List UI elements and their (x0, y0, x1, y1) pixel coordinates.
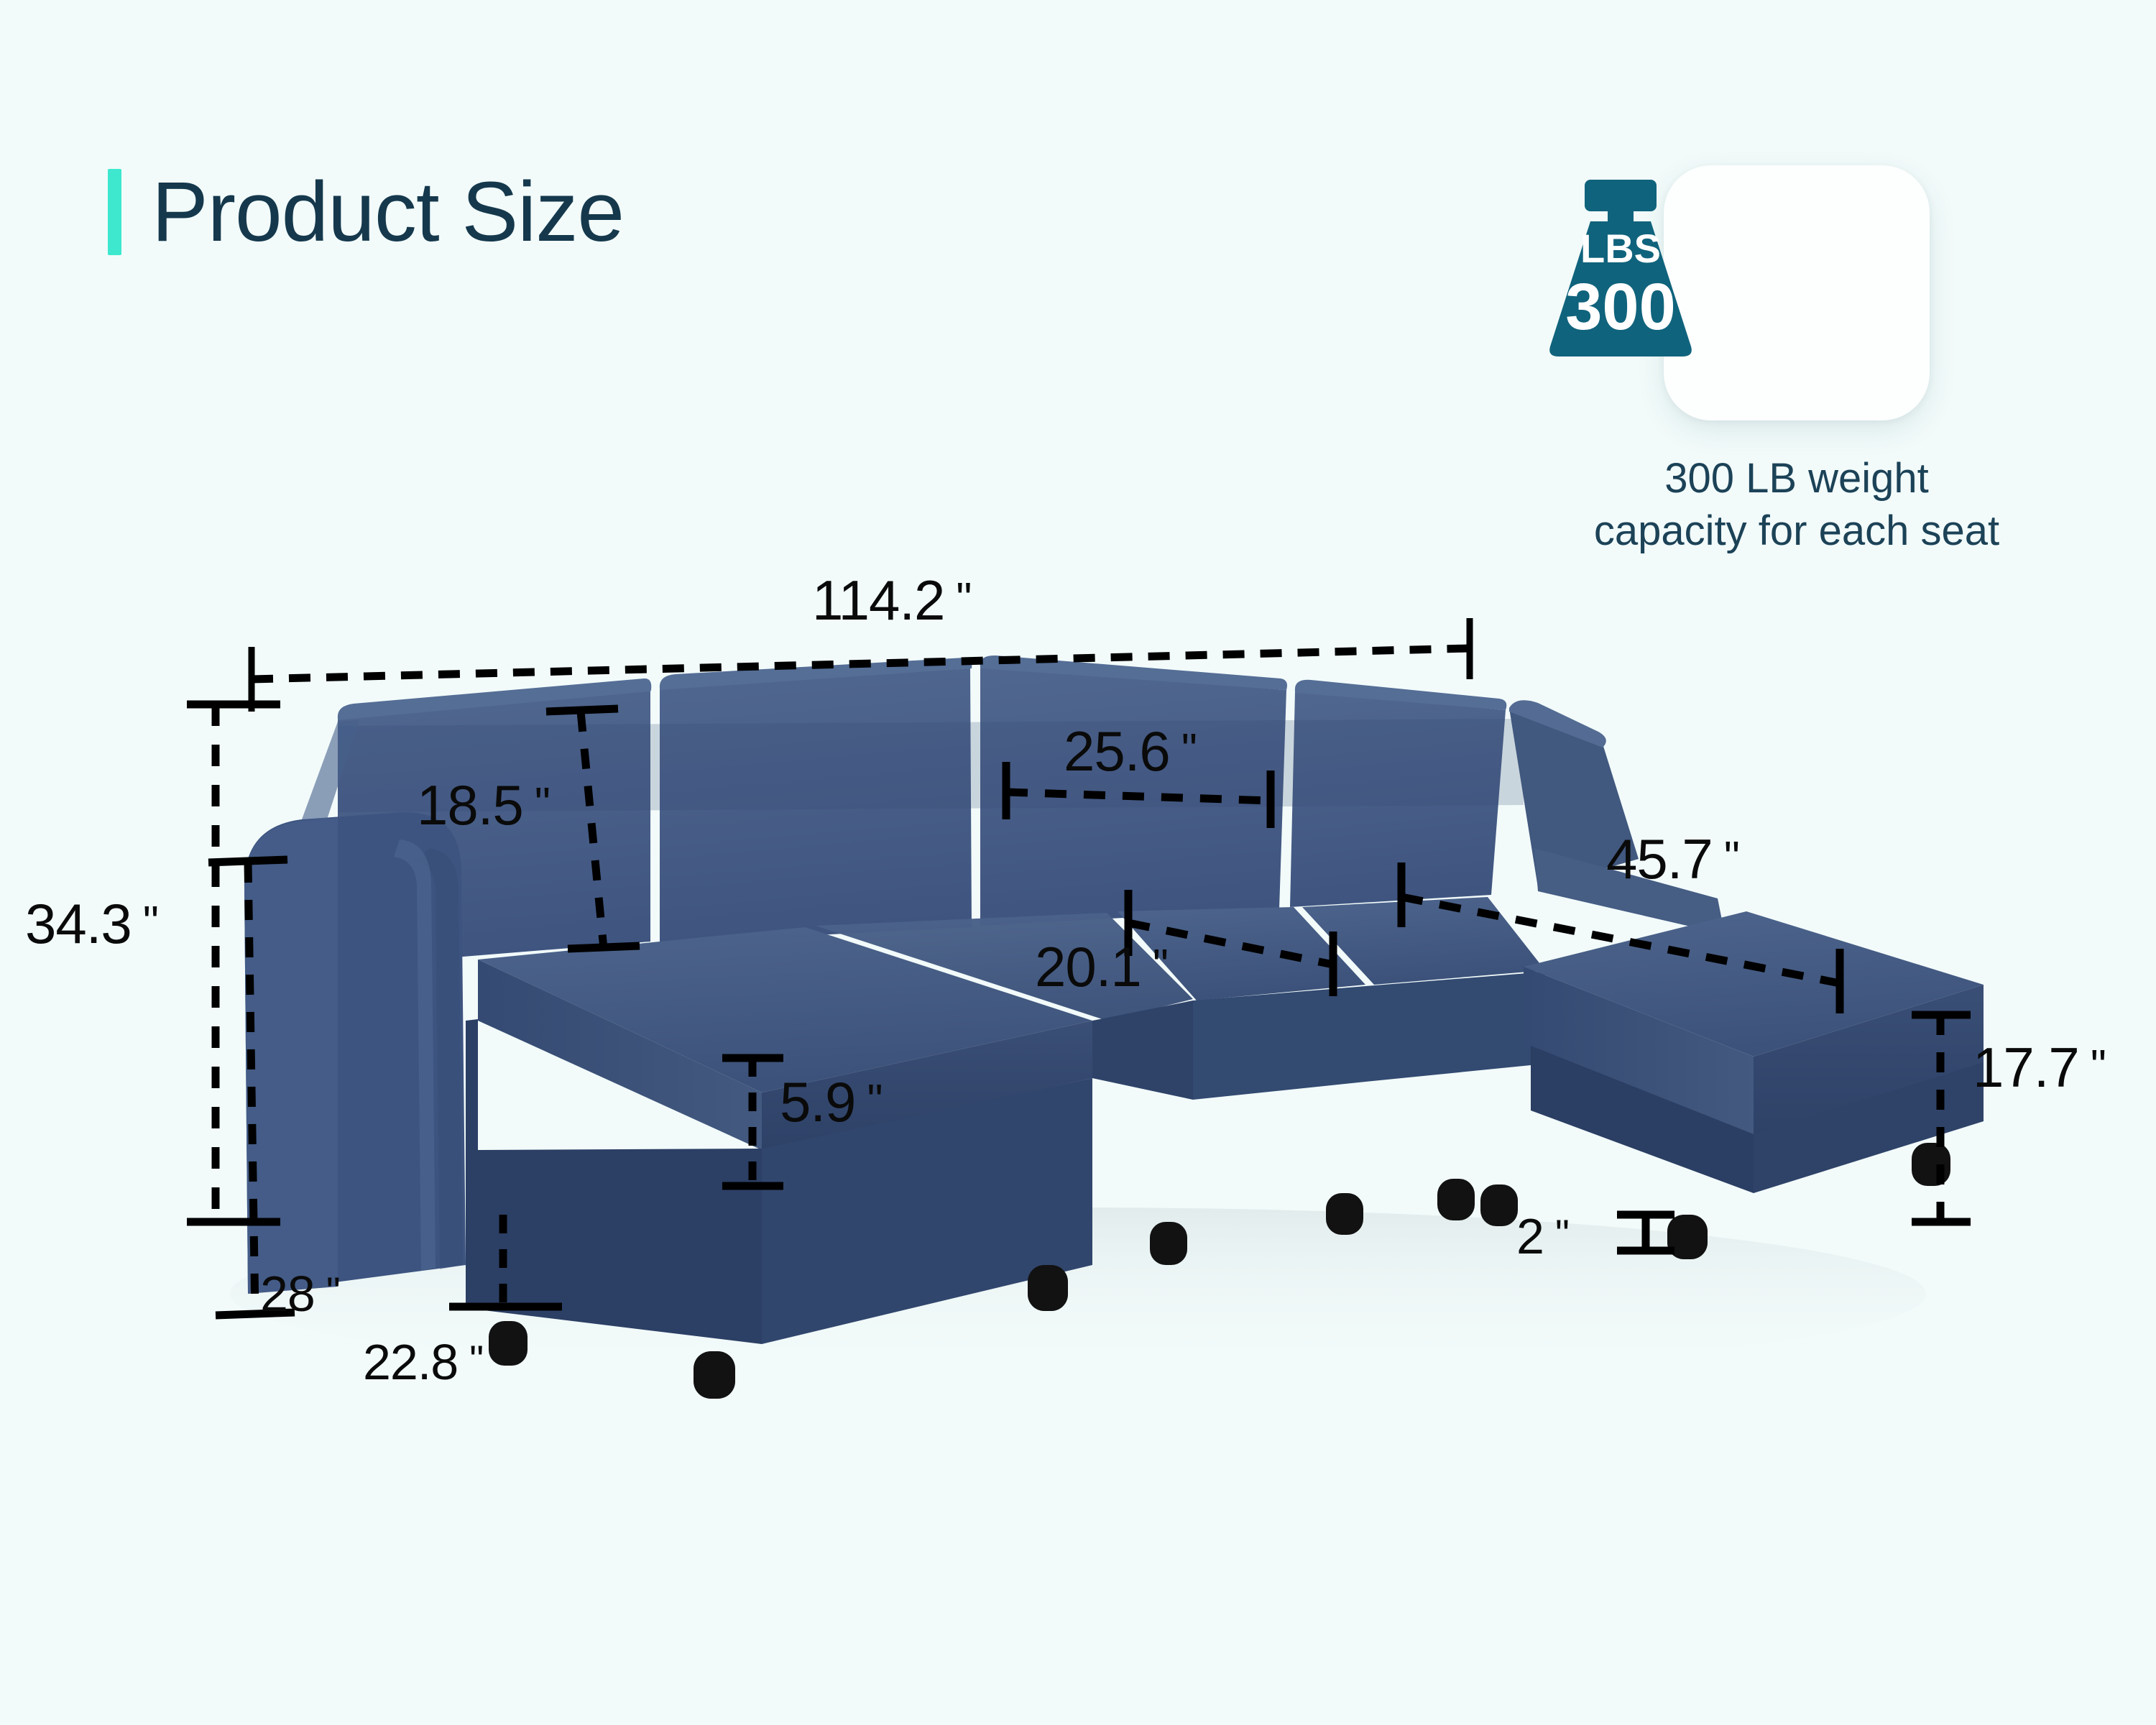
dimension-label-arm-height: 28" (260, 1265, 339, 1322)
dimension-label-seat-height: 17.7" (1973, 1035, 2105, 1100)
dimension-label-arm-depth: 22.8" (363, 1333, 482, 1391)
dimension-label-seat-width: 25.6" (1064, 719, 1196, 784)
dimension-label-seat-depth: 20.1" (1035, 934, 1167, 1000)
dimension-label-chaise-depth: 45.7" (1606, 827, 1738, 892)
sofa-illustration (0, 0, 2156, 1725)
dimension-label-cushion-thickness: 5.9" (780, 1069, 881, 1135)
dimension-label-backrest-height: 18.5" (417, 773, 549, 838)
dimension-label-overall-width: 114.2" (812, 568, 970, 633)
dimension-label-leg-height: 2" (1516, 1207, 1568, 1265)
dimension-label-overall-height: 34.3" (25, 891, 157, 957)
product-dimension-diagram (0, 0, 2156, 1725)
